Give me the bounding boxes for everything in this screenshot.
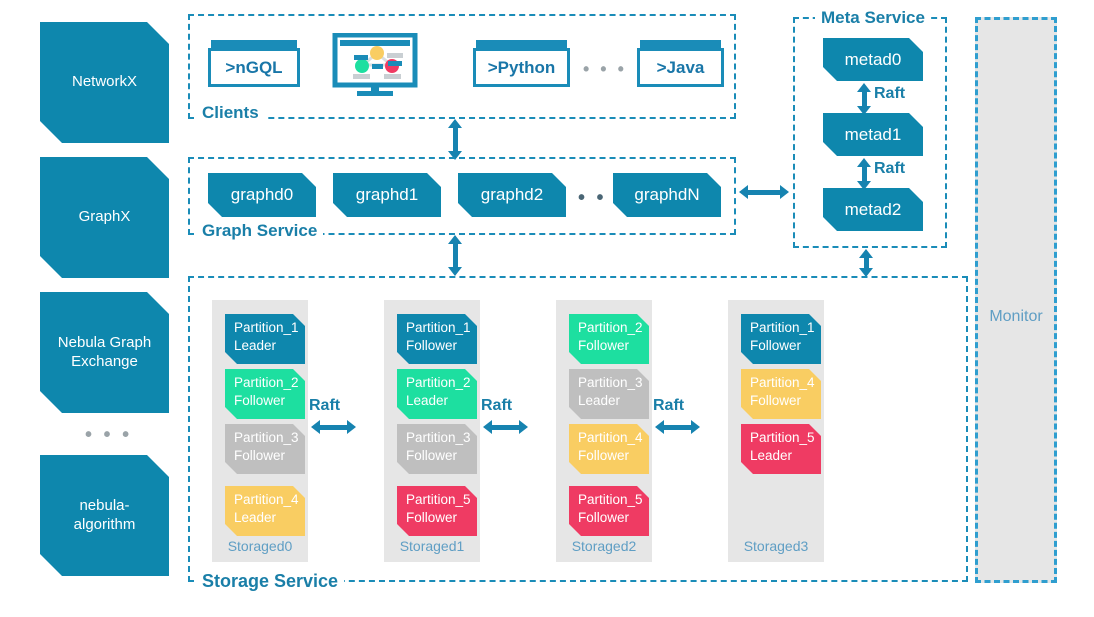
partition-name: Partition_4 — [578, 429, 649, 447]
studio-graph-icon[interactable] — [332, 33, 418, 99]
client-label: >nGQL — [225, 58, 282, 78]
partition-role: Follower — [578, 447, 649, 465]
left-tile-nebula-algorithm[interactable]: nebula- algorithm — [40, 455, 169, 576]
partition-block[interactable]: Partition_2 Leader — [397, 369, 477, 419]
storaged-host-name: Storaged0 — [212, 538, 308, 554]
left-tile-nebula-graph-exchange[interactable]: Nebula Graph Exchange — [40, 292, 169, 413]
partition-block[interactable]: Partition_4 Leader — [225, 486, 305, 536]
partition-role: Leader — [234, 337, 305, 355]
partition-role: Follower — [406, 337, 477, 355]
partition-name: Partition_5 — [578, 491, 649, 509]
storaged-host-name: Storaged2 — [556, 538, 652, 554]
partition-role: Follower — [406, 509, 477, 527]
partition-role: Follower — [234, 447, 305, 465]
partition-name: Partition_3 — [234, 429, 305, 447]
graphd-label: graphd2 — [481, 185, 543, 205]
partition-role: Leader — [406, 392, 477, 410]
metad-label: metad0 — [845, 50, 902, 70]
left-tile-label: nebula- algorithm — [74, 497, 136, 535]
client-java[interactable]: >Java — [637, 48, 724, 87]
partition-block[interactable]: Partition_3 Leader — [569, 369, 649, 419]
partition-block[interactable]: Partition_3 Follower — [225, 424, 305, 474]
partition-block[interactable]: Partition_2 Follower — [225, 369, 305, 419]
partition-name: Partition_1 — [406, 319, 477, 337]
partition-block[interactable]: Partition_5 Leader — [741, 424, 821, 474]
metad-label: metad2 — [845, 200, 902, 220]
monitor-panel[interactable]: Monitor — [975, 17, 1057, 583]
client-python[interactable]: >Python — [473, 48, 570, 87]
client-label: >Java — [657, 58, 705, 78]
partition-role: Follower — [406, 447, 477, 465]
partition-name: Partition_2 — [406, 374, 477, 392]
graphd-label: graphdN — [634, 185, 699, 205]
raft-label-storage-2: Raft — [653, 397, 684, 415]
monitor-label: Monitor — [978, 308, 1054, 326]
graph-service-section-label: Graph Service — [196, 222, 323, 239]
graphd-node-N[interactable]: graphdN — [613, 173, 721, 217]
partition-block[interactable]: Partition_5 Follower — [569, 486, 649, 536]
storaged-host-name: Storaged1 — [384, 538, 480, 554]
graphd-label: graphd0 — [231, 185, 293, 205]
client-label: >Python — [488, 58, 556, 78]
storaged-host-1[interactable]: Partition_1 Follower Partition_2 Leader … — [384, 300, 480, 562]
storaged-host-3[interactable]: Partition_1 Follower Partition_4 Followe… — [728, 300, 824, 562]
partition-name: Partition_4 — [750, 374, 821, 392]
partition-name: Partition_2 — [578, 319, 649, 337]
left-tile-label: Nebula Graph Exchange — [58, 334, 151, 372]
partition-block[interactable]: Partition_1 Follower — [397, 314, 477, 364]
storage-service-section-label: Storage Service — [196, 572, 344, 590]
partition-block[interactable]: Partition_2 Follower — [569, 314, 649, 364]
partition-name: Partition_5 — [406, 491, 477, 509]
clients-section-label: Clients — [196, 104, 265, 121]
meta-service-section-label: Meta Service — [815, 9, 931, 26]
storaged-host-name: Storaged3 — [728, 538, 824, 554]
partition-name: Partition_1 — [234, 319, 305, 337]
raft-label-meta-0: Raft — [874, 85, 905, 103]
metad-node-0[interactable]: metad0 — [823, 38, 923, 81]
metad-node-1[interactable]: metad1 — [823, 113, 923, 156]
metad-label: metad1 — [845, 125, 902, 145]
partition-role: Follower — [578, 337, 649, 355]
partition-role: Leader — [750, 447, 821, 465]
partition-role: Follower — [750, 337, 821, 355]
partition-name: Partition_4 — [234, 491, 305, 509]
raft-label-meta-1: Raft — [874, 160, 905, 178]
graphd-node-1[interactable]: graphd1 — [333, 173, 441, 217]
partition-block[interactable]: Partition_1 Leader — [225, 314, 305, 364]
raft-label-storage-0: Raft — [309, 397, 340, 415]
partition-name: Partition_5 — [750, 429, 821, 447]
partition-role: Follower — [234, 392, 305, 410]
terminal-titlebar — [640, 40, 721, 48]
partition-role: Leader — [578, 392, 649, 410]
storaged-host-2[interactable]: Partition_2 Follower Partition_3 Leader … — [556, 300, 652, 562]
graphd-label: graphd1 — [356, 185, 418, 205]
graphd-node-2[interactable]: graphd2 — [458, 173, 566, 217]
partition-role: Follower — [750, 392, 821, 410]
metad-node-2[interactable]: metad2 — [823, 188, 923, 231]
partition-name: Partition_1 — [750, 319, 821, 337]
left-tile-label: GraphX — [79, 208, 131, 227]
left-tile-graphx[interactable]: GraphX — [40, 157, 169, 278]
partition-block[interactable]: Partition_3 Follower — [397, 424, 477, 474]
partition-name: Partition_2 — [234, 374, 305, 392]
left-column-ellipsis: • • • — [85, 425, 132, 445]
storaged-host-0[interactable]: Partition_1 Leader Partition_2 Follower … — [212, 300, 308, 562]
partition-name: Partition_3 — [578, 374, 649, 392]
left-tile-label: NetworkX — [72, 73, 137, 92]
partition-block[interactable]: Partition_1 Follower — [741, 314, 821, 364]
terminal-titlebar — [476, 40, 567, 48]
partition-block[interactable]: Partition_5 Follower — [397, 486, 477, 536]
partition-role: Follower — [578, 509, 649, 527]
partition-block[interactable]: Partition_4 Follower — [741, 369, 821, 419]
raft-label-storage-1: Raft — [481, 397, 512, 415]
partition-role: Leader — [234, 509, 305, 527]
client-ngql[interactable]: >nGQL — [208, 48, 300, 87]
left-tile-networkx[interactable]: NetworkX — [40, 22, 169, 143]
graphd-node-0[interactable]: graphd0 — [208, 173, 316, 217]
architecture-diagram: NetworkX GraphX Nebula Graph Exchange • … — [0, 0, 1094, 617]
clients-ellipsis: • • • — [583, 60, 627, 78]
terminal-titlebar — [211, 40, 297, 48]
partition-block[interactable]: Partition_4 Follower — [569, 424, 649, 474]
partition-name: Partition_3 — [406, 429, 477, 447]
